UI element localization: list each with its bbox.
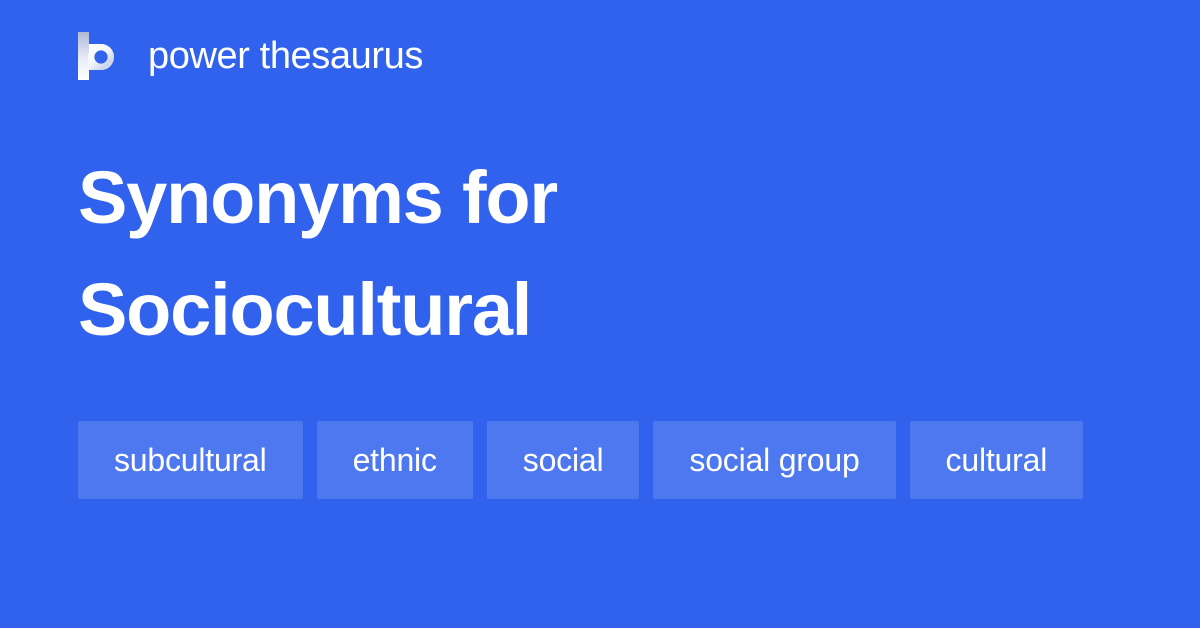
page-title-line-2: Sociocultural: [78, 254, 1078, 366]
synonym-tag-list: subcultural ethnic social social group c…: [78, 421, 1138, 499]
brand-name: power thesaurus: [148, 37, 423, 75]
brand-logo[interactable]: power thesaurus: [78, 28, 423, 84]
page-title: Synonyms for Sociocultural: [78, 142, 1078, 366]
synonym-tag[interactable]: ethnic: [317, 421, 473, 499]
page-title-line-1: Synonyms for: [78, 142, 1078, 254]
synonym-tag[interactable]: cultural: [910, 421, 1084, 499]
power-thesaurus-b-mark-icon: [78, 32, 120, 80]
synonym-tag[interactable]: social group: [653, 421, 895, 499]
synonym-tag[interactable]: subcultural: [78, 421, 303, 499]
social-share-card: power thesaurus Synonyms for Sociocultur…: [0, 0, 1200, 628]
synonym-tag[interactable]: social: [487, 421, 640, 499]
